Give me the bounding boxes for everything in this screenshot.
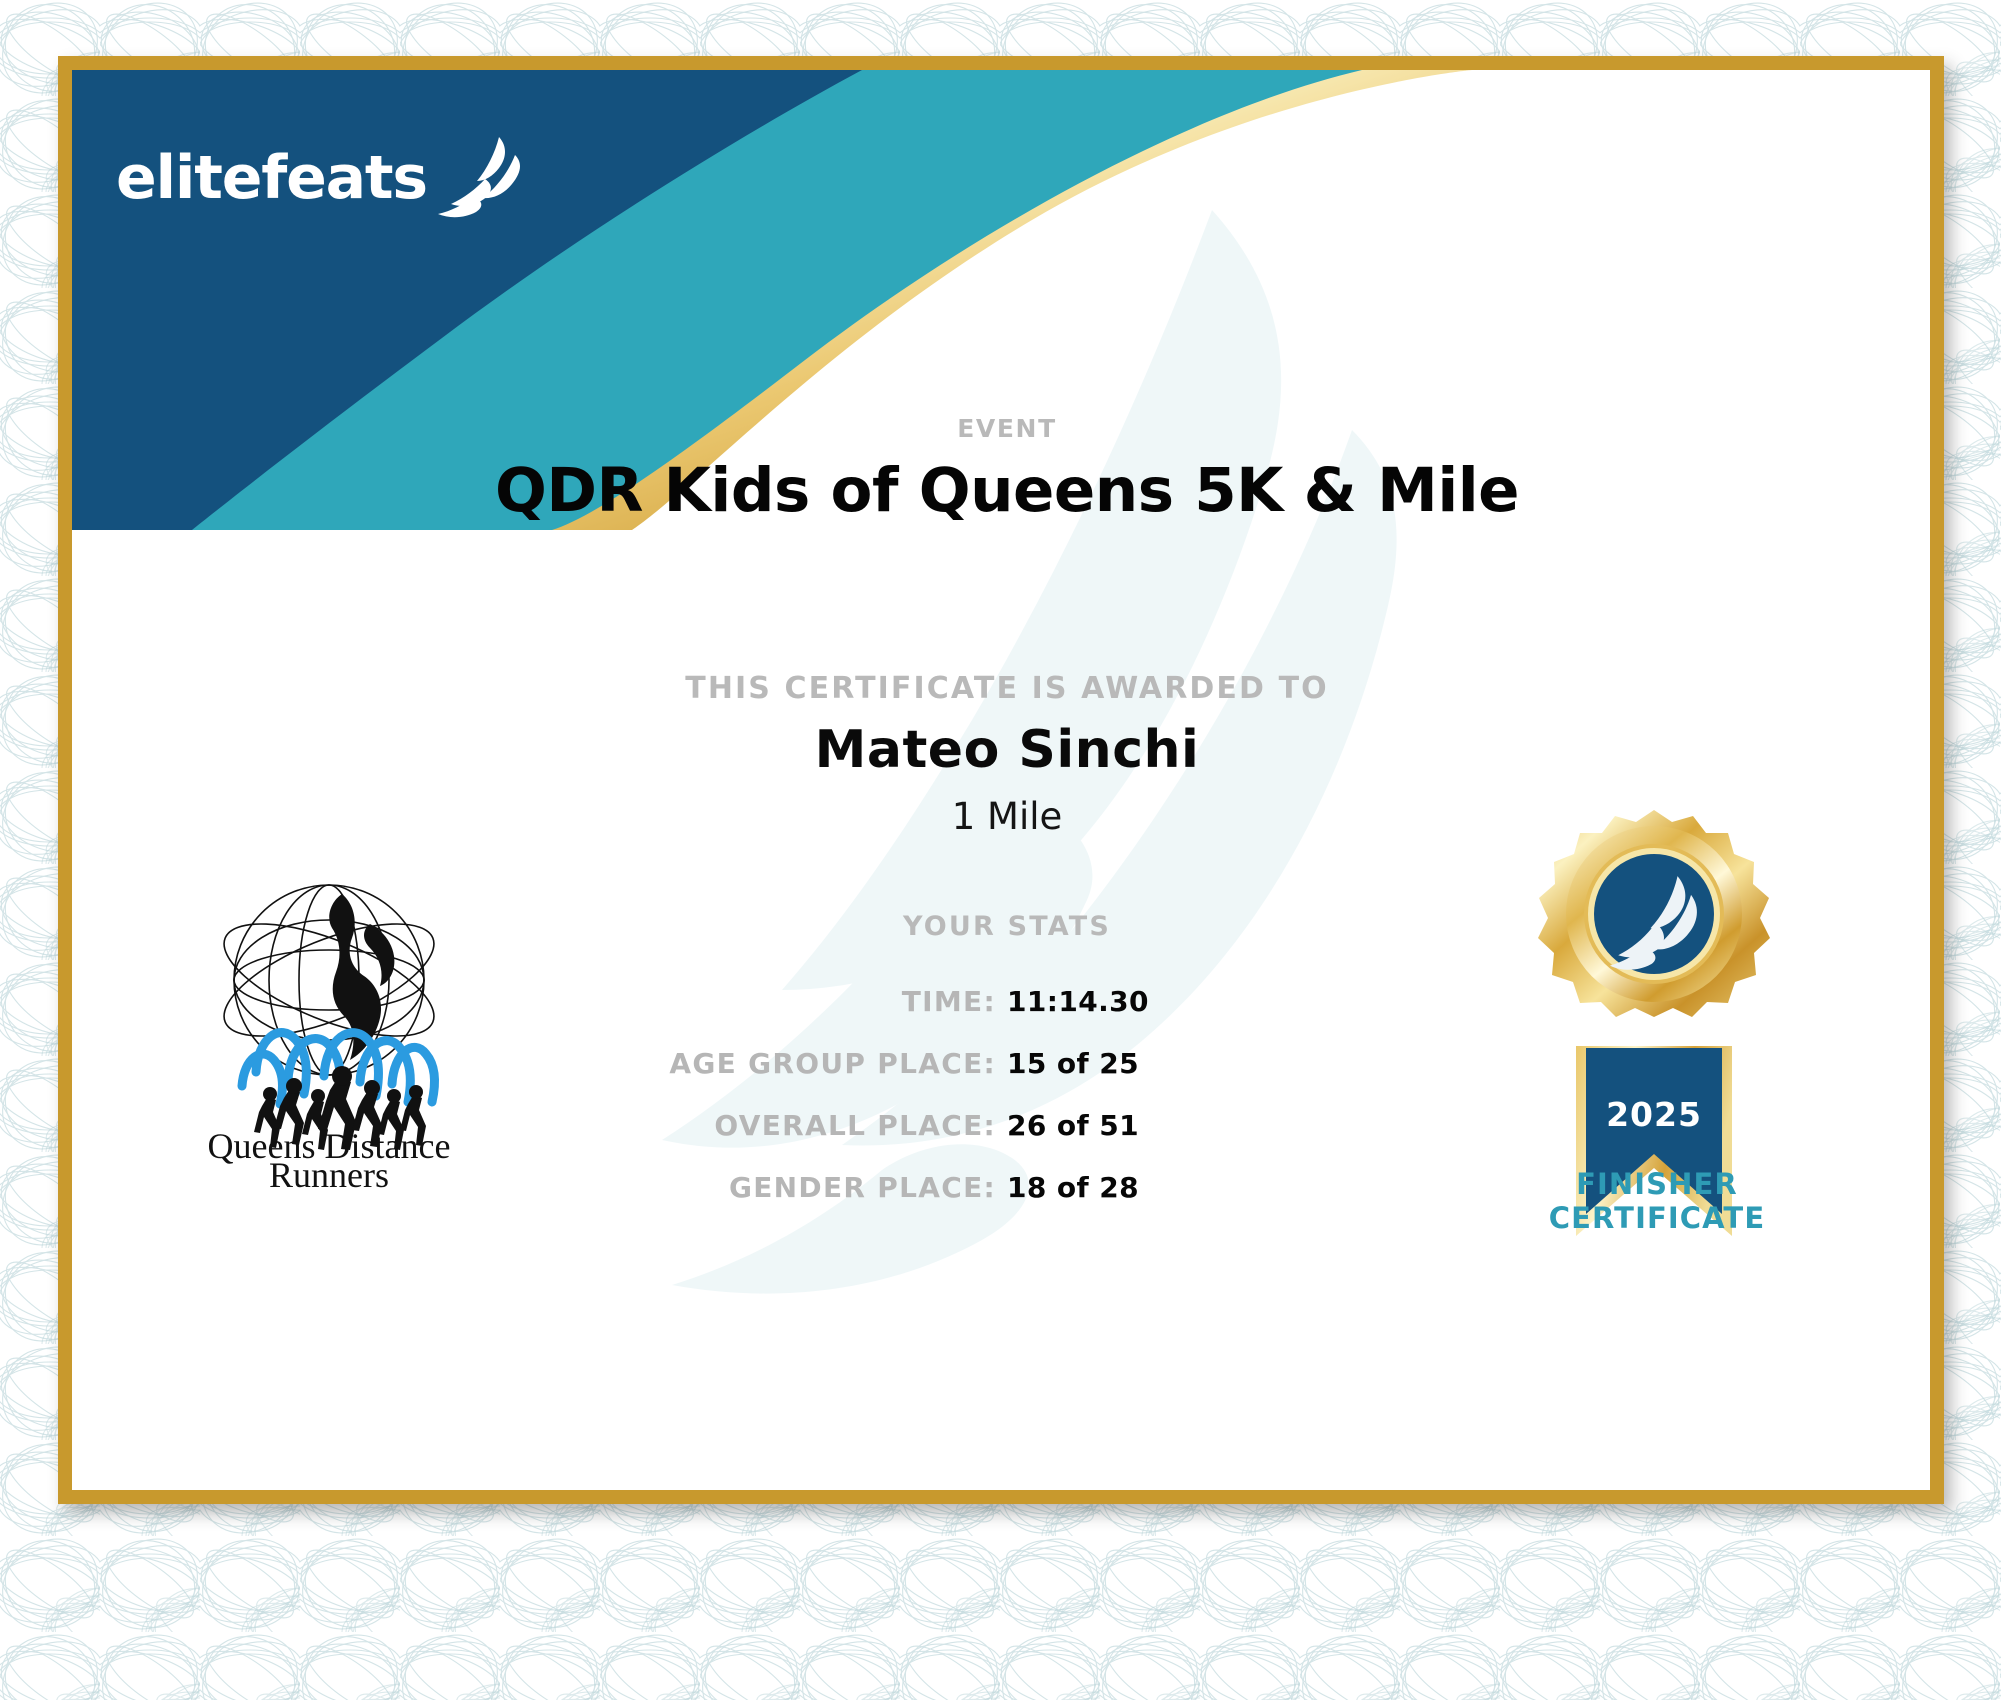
certificate-card: elitefeats EVENT QDR Kids of Queens 5K &…	[58, 56, 1944, 1504]
stat-label-overall-place: OVERALL PLACE:	[447, 1109, 1007, 1142]
medal-disc	[1538, 810, 1770, 1017]
finisher-certificate-caption: FINISHER CERTIFICATE	[1472, 1168, 1842, 1235]
certificate-content: EVENT QDR Kids of Queens 5K & Mile THIS …	[72, 70, 1930, 1490]
stat-value-time: 11:14.30	[1007, 985, 1567, 1018]
elitefeats-wordmark: elitefeats	[116, 148, 427, 208]
elitefeats-logo: elitefeats	[116, 135, 525, 221]
finisher-caption-line-2: CERTIFICATE	[1472, 1202, 1842, 1236]
certificate-inner: elitefeats EVENT QDR Kids of Queens 5K &…	[72, 70, 1930, 1490]
winged-foot-icon	[429, 135, 525, 221]
qdr-name-line-2: Runners	[269, 1155, 389, 1190]
your-stats-label: YOUR STATS	[417, 911, 1597, 942]
stat-label-gender-place: GENDER PLACE:	[447, 1171, 1007, 1204]
finisher-caption-line-1: FINISHER	[1472, 1168, 1842, 1202]
stat-row-gender-place: GENDER PLACE: 18 of 28	[417, 1171, 1597, 1225]
recipient-name: Mateo Sinchi	[417, 720, 1597, 780]
stat-value-age-group-place: 15 of 25	[1007, 1047, 1567, 1080]
stat-row-overall-place: OVERALL PLACE: 26 of 51	[417, 1109, 1597, 1163]
event-label: EVENT	[417, 414, 1597, 443]
stat-label-time: TIME:	[447, 985, 1007, 1018]
stat-value-overall-place: 26 of 51	[1007, 1109, 1567, 1142]
queens-distance-runners-logo: Queens Distance Runners	[184, 860, 474, 1190]
stat-row-time: TIME: 11:14.30	[417, 985, 1597, 1039]
medal-year: 2025	[1606, 1095, 1702, 1134]
event-title: QDR Kids of Queens 5K & Mile	[417, 455, 1597, 526]
stats-table: TIME: 11:14.30 AGE GROUP PLACE: 15 of 25…	[417, 985, 1597, 1233]
stat-row-age-group-place: AGE GROUP PLACE: 15 of 25	[417, 1047, 1597, 1101]
awarded-to-label: THIS CERTIFICATE IS AWARDED TO	[417, 671, 1597, 706]
recipient-distance: 1 Mile	[417, 795, 1597, 838]
stat-label-age-group-place: AGE GROUP PLACE:	[447, 1047, 1007, 1080]
